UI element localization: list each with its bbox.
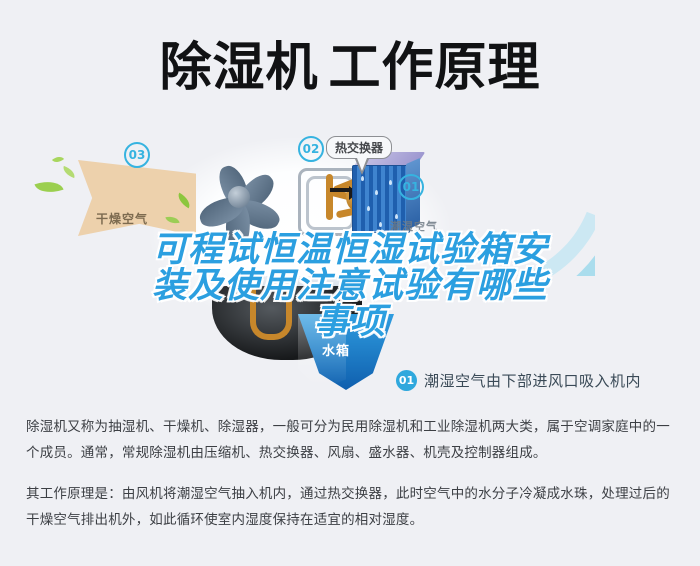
body-paragraph-1: 除湿机又称为抽湿机、干燥机、除湿器，一般可分为民用除湿机和工业除湿机两大类，属于… <box>26 414 676 467</box>
water-tank-label: 水箱 <box>322 340 350 359</box>
page-title-part1: 除湿机 <box>159 38 318 98</box>
leaf-icon <box>52 154 64 166</box>
page-title-part2: 工作原理 <box>329 38 541 98</box>
legend-badge-01: 01 <box>396 370 417 391</box>
heat-exchanger-callout: 热交换器 <box>326 136 392 159</box>
drain-tube-icon <box>250 288 292 340</box>
fan-icon <box>196 156 292 242</box>
page-title: 除湿机工作原理 <box>0 28 700 108</box>
legend-text-01: 潮湿空气由下部进风口吸入机内 <box>424 370 641 391</box>
legend-item: 01 潮湿空气由下部进风口吸入机内 <box>396 370 686 391</box>
page-root: 除湿机工作原理 干燥空气 <box>0 0 700 566</box>
diagram-badge-01: 01 <box>398 174 424 200</box>
body-paragraph-2: 其工作原理是：由风机将潮湿空气抽入机内，通过热交换器，此时空气中的水分子冷凝成水… <box>26 481 676 534</box>
leaf-icon <box>61 166 77 178</box>
legend: 01 潮湿空气由下部进风口吸入机内 02 潮湿空气经过蒸发器冷凝成水珠 03 从… <box>396 370 686 400</box>
diagram-badge-03: 03 <box>124 142 150 168</box>
leaf-icon <box>34 176 63 197</box>
wet-air-label: 潮湿空气 <box>390 218 438 234</box>
dehumidifier-diagram: 干燥空气 <box>0 118 700 400</box>
dry-air-label: 干燥空气 <box>96 210 148 227</box>
body-copy: 除湿机又称为抽湿机、干燥机、除湿器，一般可分为民用除湿机和工业除湿机两大类，属于… <box>26 414 676 547</box>
diagram-badge-02: 02 <box>298 136 324 162</box>
